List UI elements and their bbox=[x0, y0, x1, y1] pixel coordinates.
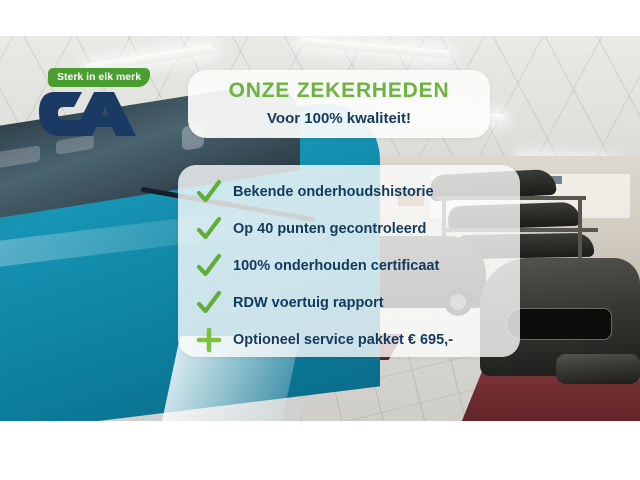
list-item: Op 40 punten gecontroleerd bbox=[194, 210, 510, 247]
dealer-logo: Sterk in elk merk bbox=[38, 68, 156, 144]
promo-banner: Sterk in elk merk ONZE ZEKERHEDEN Voor 1… bbox=[0, 0, 640, 480]
list-item: 100% onderhouden certificaat bbox=[194, 247, 510, 284]
check-icon bbox=[194, 288, 224, 318]
glass-reflection bbox=[0, 145, 40, 170]
page-subtitle: Voor 100% kwaliteit! bbox=[188, 110, 490, 127]
list-item: Bekende onderhoudshistorie bbox=[194, 173, 510, 210]
list-item-label: Optioneel service pakket € 695,- bbox=[233, 332, 453, 348]
car-bumper bbox=[556, 354, 640, 384]
list-item-label: Bekende onderhoudshistorie bbox=[233, 184, 434, 200]
checklist: Bekende onderhoudshistorie Op 40 punten … bbox=[194, 173, 510, 358]
list-item-label: RDW voertuig rapport bbox=[233, 295, 384, 311]
car-grille bbox=[506, 308, 612, 340]
plus-icon bbox=[194, 325, 224, 355]
page-title: ONZE ZEKERHEDEN bbox=[188, 79, 490, 103]
list-item-label: 100% onderhouden certificaat bbox=[233, 258, 439, 274]
check-icon bbox=[194, 214, 224, 244]
logo-mark-ga-icon bbox=[38, 86, 156, 144]
checklist-card: Bekende onderhoudshistorie Op 40 punten … bbox=[178, 165, 520, 357]
list-item: RDW voertuig rapport bbox=[194, 284, 510, 321]
logo-tagline: Sterk in elk merk bbox=[48, 68, 150, 87]
check-icon bbox=[194, 177, 224, 207]
header-card: ONZE ZEKERHEDEN Voor 100% kwaliteit! bbox=[188, 70, 490, 138]
storage-rack bbox=[578, 196, 582, 266]
check-icon bbox=[194, 251, 224, 281]
list-item: Optioneel service pakket € 695,- bbox=[194, 321, 510, 358]
list-item-label: Op 40 punten gecontroleerd bbox=[233, 221, 426, 237]
